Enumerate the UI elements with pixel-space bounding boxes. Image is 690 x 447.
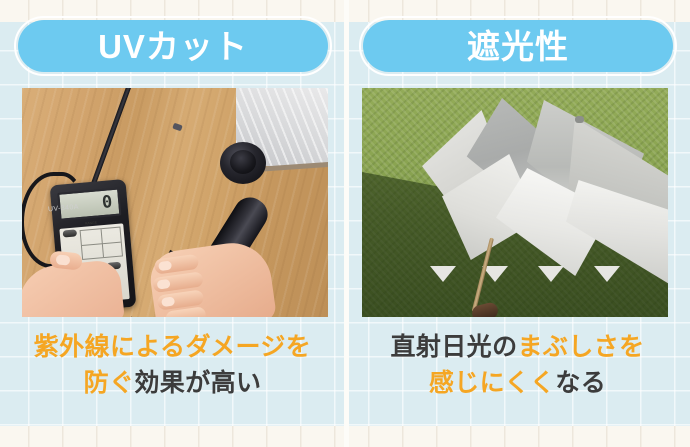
caption-seg-orange: 感じにくく [429,369,556,397]
power-button[interactable] [63,229,78,237]
caption-seg-dark: 効果が高い [134,369,261,397]
panel-light-blocking: 遮光性 [345,0,690,447]
range-label: RANGE [85,222,97,226]
header-label-uv-cut: UVカット [98,30,248,63]
caption-seg-orange: まぶしさを [518,333,645,361]
sensor-probe-lens [230,150,256,174]
infographic-canvas: UVカット [0,0,690,447]
lcd-reading: 0 [101,194,113,212]
caption-line-1: 直射日光のまぶしさを [345,330,690,366]
caption-line-2: 感じにくくなる [345,366,690,402]
caption-seg-orange: 防ぐ [84,369,135,397]
range-selector-grid [80,227,123,260]
photo-uv-meter: 0 RANGE UV LIGHT METER UV-340A [22,88,328,317]
canopy-rim [420,236,664,282]
caption-seg-dark: 直射日光の [390,333,517,361]
caption-light-blocking: 直射日光のまぶしさを 感じにくくなる [345,330,690,401]
pill-fill: 遮光性 [363,20,673,72]
left-thumb-nail [56,254,71,265]
caption-line-2: 防ぐ効果が高い [0,366,345,402]
header-pill-light-blocking: 遮光性 [359,16,677,76]
caption-uv-cut: 紫外線によるダメージを 防ぐ効果が高い [0,330,345,401]
caption-line-1: 紫外線によるダメージを [0,330,345,366]
header-pill-uv-cut: UVカット [14,16,332,76]
header-label-light-blocking: 遮光性 [467,30,569,63]
parasol-tip [575,116,584,123]
photo-parasol [362,88,668,317]
panel-uv-cut: UVカット [0,0,345,447]
pill-fill: UVカット [18,20,328,72]
caption-seg-dark: なる [555,369,606,397]
caption-seg-orange: 紫外線によるダメージを [34,333,311,361]
